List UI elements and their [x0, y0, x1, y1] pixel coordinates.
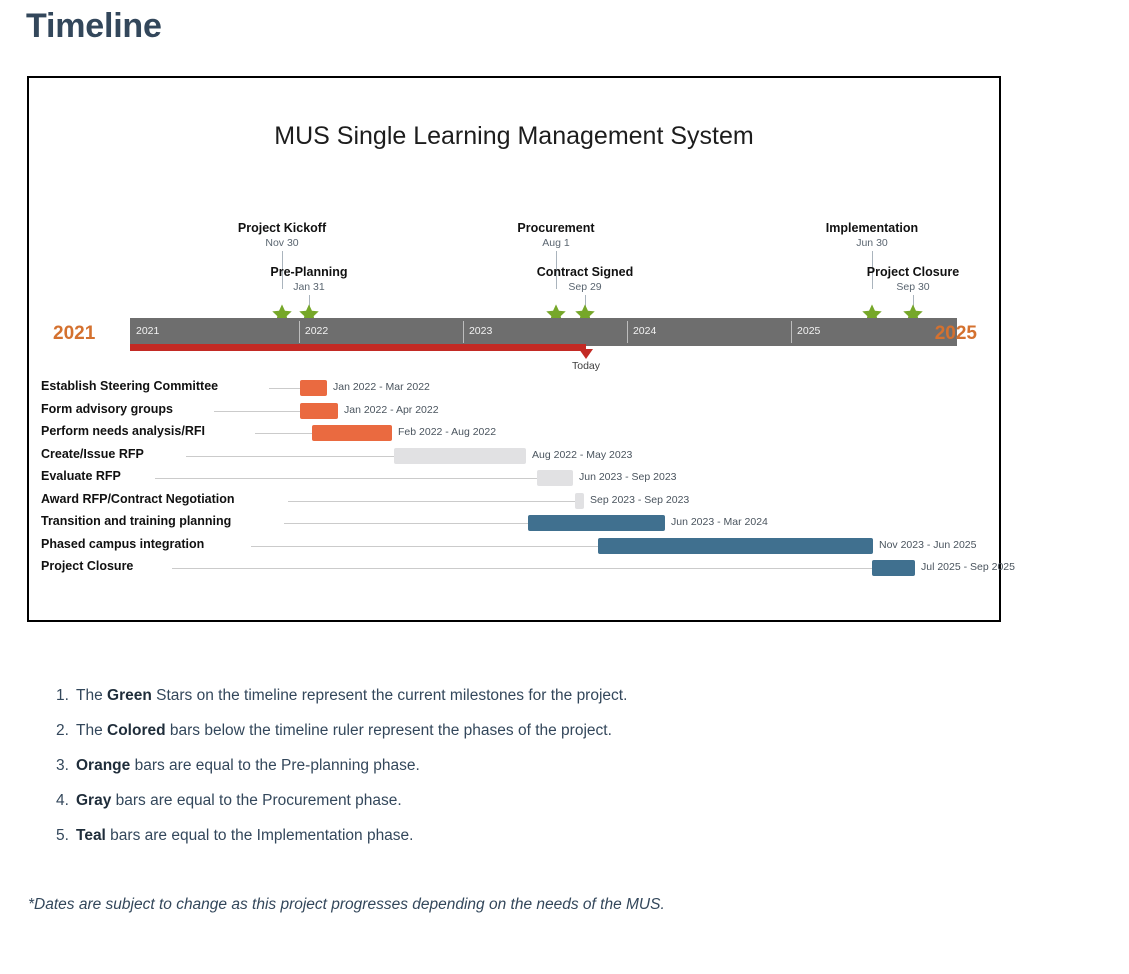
note-text-emphasis: Orange	[76, 757, 130, 774]
note-text-post: bars are equal to the Procurement phase.	[111, 792, 401, 809]
gantt-bar-gray[interactable]	[537, 470, 573, 486]
ruler-tick-2023	[463, 321, 464, 343]
gantt-row[interactable]: Award RFP/Contract NegotiationSep 2023 -…	[29, 491, 999, 514]
ruler-year-label-2023: 2023	[469, 325, 492, 337]
gantt-bar-orange[interactable]	[312, 425, 392, 441]
gantt-row[interactable]: Transition and training planningJun 2023…	[29, 513, 999, 536]
gantt-leader-line	[255, 433, 312, 434]
gantt-row[interactable]: Phased campus integrationNov 2023 - Jun …	[29, 536, 999, 559]
chart-title: MUS Single Learning Management System	[29, 122, 999, 151]
milestone-name: Pre-Planning	[270, 265, 347, 280]
note-text-emphasis: Gray	[76, 792, 111, 809]
timeline-start-year: 2021	[53, 323, 95, 345]
note-item: 3.Orange bars are equal to the Pre-plann…	[56, 748, 1056, 783]
note-text-post: bars below the timeline ruler represent …	[166, 722, 612, 739]
ruler-year-label-2024: 2024	[633, 325, 656, 337]
gantt-bar-date-range: Feb 2022 - Aug 2022	[398, 426, 496, 438]
milestone-pre-planning[interactable]: Pre-PlanningJan 31	[270, 265, 347, 294]
gantt-bar-teal[interactable]	[872, 560, 915, 576]
gantt-bar-date-range: Sep 2023 - Sep 2023	[590, 494, 689, 506]
timeline-graphic-frame: MUS Single Learning Management System Pr…	[27, 76, 1001, 622]
gantt-task-label: Form advisory groups	[41, 402, 173, 416]
milestone-date: Jan 31	[270, 280, 347, 294]
gantt-row[interactable]: Perform needs analysis/RFIFeb 2022 - Aug…	[29, 423, 999, 446]
gantt-bar-date-range: Jan 2022 - Apr 2022	[344, 404, 439, 416]
gantt-leader-line	[186, 456, 394, 457]
milestone-name: Contract Signed	[537, 265, 634, 280]
gantt-bar-date-range: Jun 2023 - Sep 2023	[579, 471, 677, 483]
gantt-leader-line	[288, 501, 575, 502]
gantt-leader-line	[172, 568, 872, 569]
ruler-tick-2025	[791, 321, 792, 343]
today-marker-icon	[579, 349, 593, 359]
gantt-task-label: Create/Issue RFP	[41, 447, 144, 461]
note-item: 4.Gray bars are equal to the Procurement…	[56, 783, 1056, 818]
gantt-task-label: Award RFP/Contract Negotiation	[41, 492, 235, 506]
gantt-row[interactable]: Establish Steering CommitteeJan 2022 - M…	[29, 378, 999, 401]
footnote: *Dates are subject to change as this pro…	[28, 896, 665, 914]
gantt-row[interactable]: Evaluate RFPJun 2023 - Sep 2023	[29, 468, 999, 491]
ruler-year-label-2021: 2021	[136, 325, 159, 337]
gantt-bar-date-range: Nov 2023 - Jun 2025	[879, 539, 976, 551]
gantt-bar-date-range: Jan 2022 - Mar 2022	[333, 381, 430, 393]
milestone-project-closure[interactable]: Project ClosureSep 30	[867, 265, 959, 294]
note-item: 5.Teal bars are equal to the Implementat…	[56, 818, 1056, 853]
gantt-task-label: Evaluate RFP	[41, 469, 121, 483]
gantt-row[interactable]: Project ClosureJul 2025 - Sep 2025	[29, 558, 999, 581]
milestone-contract-signed[interactable]: Contract SignedSep 29	[537, 265, 634, 294]
note-text-pre: The	[76, 687, 107, 704]
gantt-bar-date-range: Jun 2023 - Mar 2024	[671, 516, 768, 528]
note-number: 3.	[56, 748, 76, 783]
note-item: 1.The Green Stars on the timeline repres…	[56, 678, 1056, 713]
gantt-bar-date-range: Jul 2025 - Sep 2025	[921, 561, 1015, 573]
milestone-name: Implementation	[826, 221, 918, 236]
notes-list: 1.The Green Stars on the timeline repres…	[56, 678, 1056, 853]
note-number: 4.	[56, 783, 76, 818]
milestone-date: Aug 1	[517, 236, 594, 250]
gantt-bar-date-range: Aug 2022 - May 2023	[532, 449, 632, 461]
timeline-end-year: 2025	[935, 323, 977, 345]
milestone-project-kickoff[interactable]: Project KickoffNov 30	[238, 221, 326, 250]
gantt-bar-orange[interactable]	[300, 380, 327, 396]
gantt-bar-teal[interactable]	[528, 515, 665, 531]
gantt-leader-line	[284, 523, 528, 524]
ruler-year-label-2025: 2025	[797, 325, 820, 337]
note-text-emphasis: Green	[107, 687, 152, 704]
gantt-task-label: Perform needs analysis/RFI	[41, 424, 205, 438]
gantt-leader-line	[269, 388, 300, 389]
ruler-tick-2024	[627, 321, 628, 343]
gantt-task-label: Project Closure	[41, 559, 133, 573]
ruler-year-label-2022: 2022	[305, 325, 328, 337]
note-text-post: bars are equal to the Implementation pha…	[106, 827, 414, 844]
gantt-bar-orange[interactable]	[300, 403, 338, 419]
timeline-ruler: 20212022202320242025	[130, 318, 957, 346]
gantt-bar-teal[interactable]	[598, 538, 873, 554]
gantt-leader-line	[251, 546, 598, 547]
milestone-date: Sep 30	[867, 280, 959, 294]
milestone-procurement[interactable]: ProcurementAug 1	[517, 221, 594, 250]
milestone-name: Project Closure	[867, 265, 959, 280]
note-text-post: bars are equal to the Pre-planning phase…	[130, 757, 420, 774]
note-text-emphasis: Teal	[76, 827, 106, 844]
gantt-task-label: Transition and training planning	[41, 514, 231, 528]
gantt-task-label: Phased campus integration	[41, 537, 204, 551]
gantt-bar-gray[interactable]	[575, 493, 584, 509]
gantt-row[interactable]: Form advisory groupsJan 2022 - Apr 2022	[29, 401, 999, 424]
gantt-task-label: Establish Steering Committee	[41, 379, 218, 393]
page-title: Timeline	[26, 4, 162, 48]
note-number: 2.	[56, 713, 76, 748]
note-text-post: Stars on the timeline represent the curr…	[152, 687, 628, 704]
milestone-date: Nov 30	[238, 236, 326, 250]
milestone-name: Procurement	[517, 221, 594, 236]
today-label: Today	[572, 360, 600, 372]
note-number: 5.	[56, 818, 76, 853]
gantt-bar-gray[interactable]	[394, 448, 526, 464]
gantt-leader-line	[214, 411, 300, 412]
gantt-leader-line	[155, 478, 537, 479]
milestone-implementation[interactable]: ImplementationJun 30	[826, 221, 918, 250]
note-item: 2.The Colored bars below the timeline ru…	[56, 713, 1056, 748]
ruler-tick-2022	[299, 321, 300, 343]
milestone-name: Project Kickoff	[238, 221, 326, 236]
note-text-pre: The	[76, 722, 107, 739]
milestone-date: Sep 29	[537, 280, 634, 294]
note-number: 1.	[56, 678, 76, 713]
gantt-row[interactable]: Create/Issue RFPAug 2022 - May 2023	[29, 446, 999, 469]
progress-bar-elapsed	[130, 344, 586, 351]
milestone-date: Jun 30	[826, 236, 918, 250]
gantt-rows: Establish Steering CommitteeJan 2022 - M…	[29, 378, 999, 581]
note-text-emphasis: Colored	[107, 722, 166, 739]
